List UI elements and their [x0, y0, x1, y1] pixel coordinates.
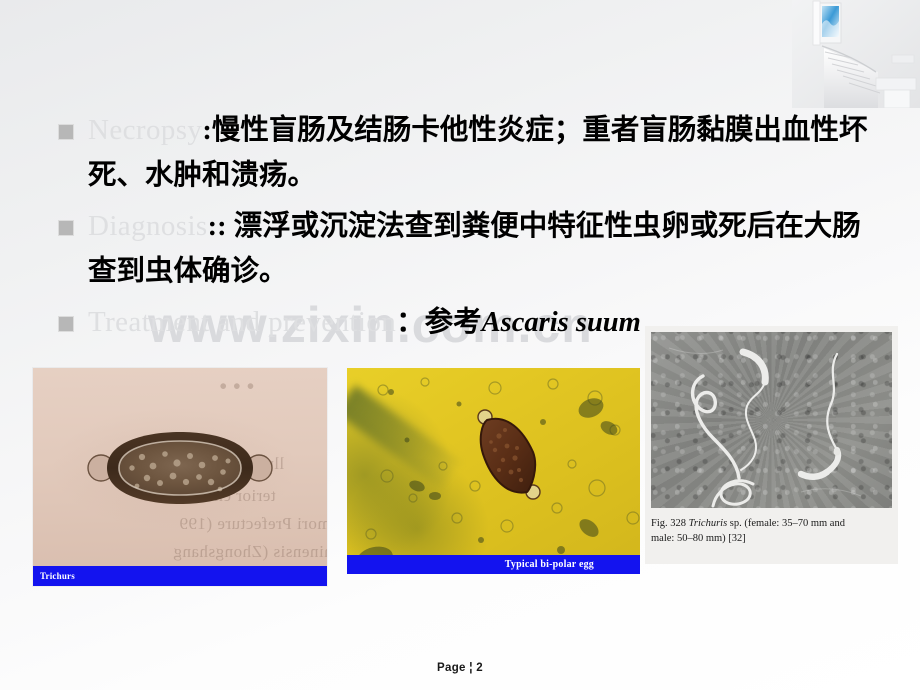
egg-illustration	[87, 430, 273, 506]
bullet-label-necropsy: Necropsy	[88, 114, 202, 146]
stone-surface-plate	[651, 332, 892, 508]
bullet-species-name: Ascaris suum	[482, 307, 641, 338]
square-bullet-icon	[58, 316, 74, 332]
bullet-text-necropsy: Necropsy:慢性盲肠及结肠卡他性炎症；重者盲肠黏膜出血性坏死、水肿和溃疡。	[88, 108, 884, 198]
caption-prefix: Fig. 328	[651, 518, 689, 529]
photo-caption-adult-worms: Fig. 328 Trichuris sp. (female: 35–70 mm…	[651, 516, 895, 546]
caption-suffix: sp. (female: 35–70 mm and	[727, 518, 845, 529]
page-footer: Page ¦ 2	[0, 662, 920, 674]
bullet-body-necropsy: :慢性盲肠及结肠卡他性炎症；重者盲肠黏膜出血性坏死、水肿和溃疡。	[88, 115, 867, 191]
bullet-item-necropsy: Necropsy:慢性盲肠及结肠卡他性炎症；重者盲肠黏膜出血性坏死、水肿和溃疡。	[46, 108, 884, 198]
ghost-text-line: • • •	[219, 374, 254, 399]
bullet-text-diagnosis: Diagnosis:: 漂浮或沉淀法查到粪便中特征性虫卵或死后在大肠查到虫体确诊…	[88, 204, 884, 294]
bullet-body-treatment: ：参考	[396, 307, 482, 338]
caption-genus: Trichuris	[689, 518, 728, 529]
presentation-slide: www.zixin.com.cn Necropsy:慢性盲肠及结肠卡他性炎症；重…	[0, 0, 920, 690]
square-bullet-icon	[58, 220, 74, 236]
photo-caption-bipolar-egg: Typical bi-polar egg	[347, 555, 640, 574]
caption-line-2: male: 50–80 mm) [32]	[651, 531, 895, 546]
ghost-text-line: y D. chinensis (Zhongshang	[173, 542, 327, 562]
bullet-item-diagnosis: Diagnosis:: 漂浮或沉淀法查到粪便中特征性虫卵或死后在大肠查到虫体确诊…	[46, 204, 884, 294]
bipolar-egg-photo: Typical bi-polar egg	[347, 368, 640, 574]
adult-whipworms-photo: Fig. 328 Trichuris sp. (female: 35–70 mm…	[645, 326, 898, 564]
stairs-and-door-decoration	[792, 0, 920, 108]
trichuris-egg-photo: • • • llum terior end in Aomori Prefectu…	[33, 368, 327, 586]
bullet-label-diagnosis: Diagnosis	[88, 210, 208, 242]
square-bullet-icon	[58, 124, 74, 140]
bullet-label-treatment: Treatment and prevention	[88, 306, 396, 338]
ghost-text-line: in Aomori Prefecture (199	[179, 514, 327, 534]
bipolar-egg-illustration	[473, 408, 545, 500]
bullet-list: Necropsy:慢性盲肠及结肠卡他性炎症；重者盲肠黏膜出血性坏死、水肿和溃疡。…	[46, 108, 884, 351]
photo-caption-trichurs: Trichurs	[33, 566, 327, 586]
whipworm-shapes	[651, 332, 892, 508]
